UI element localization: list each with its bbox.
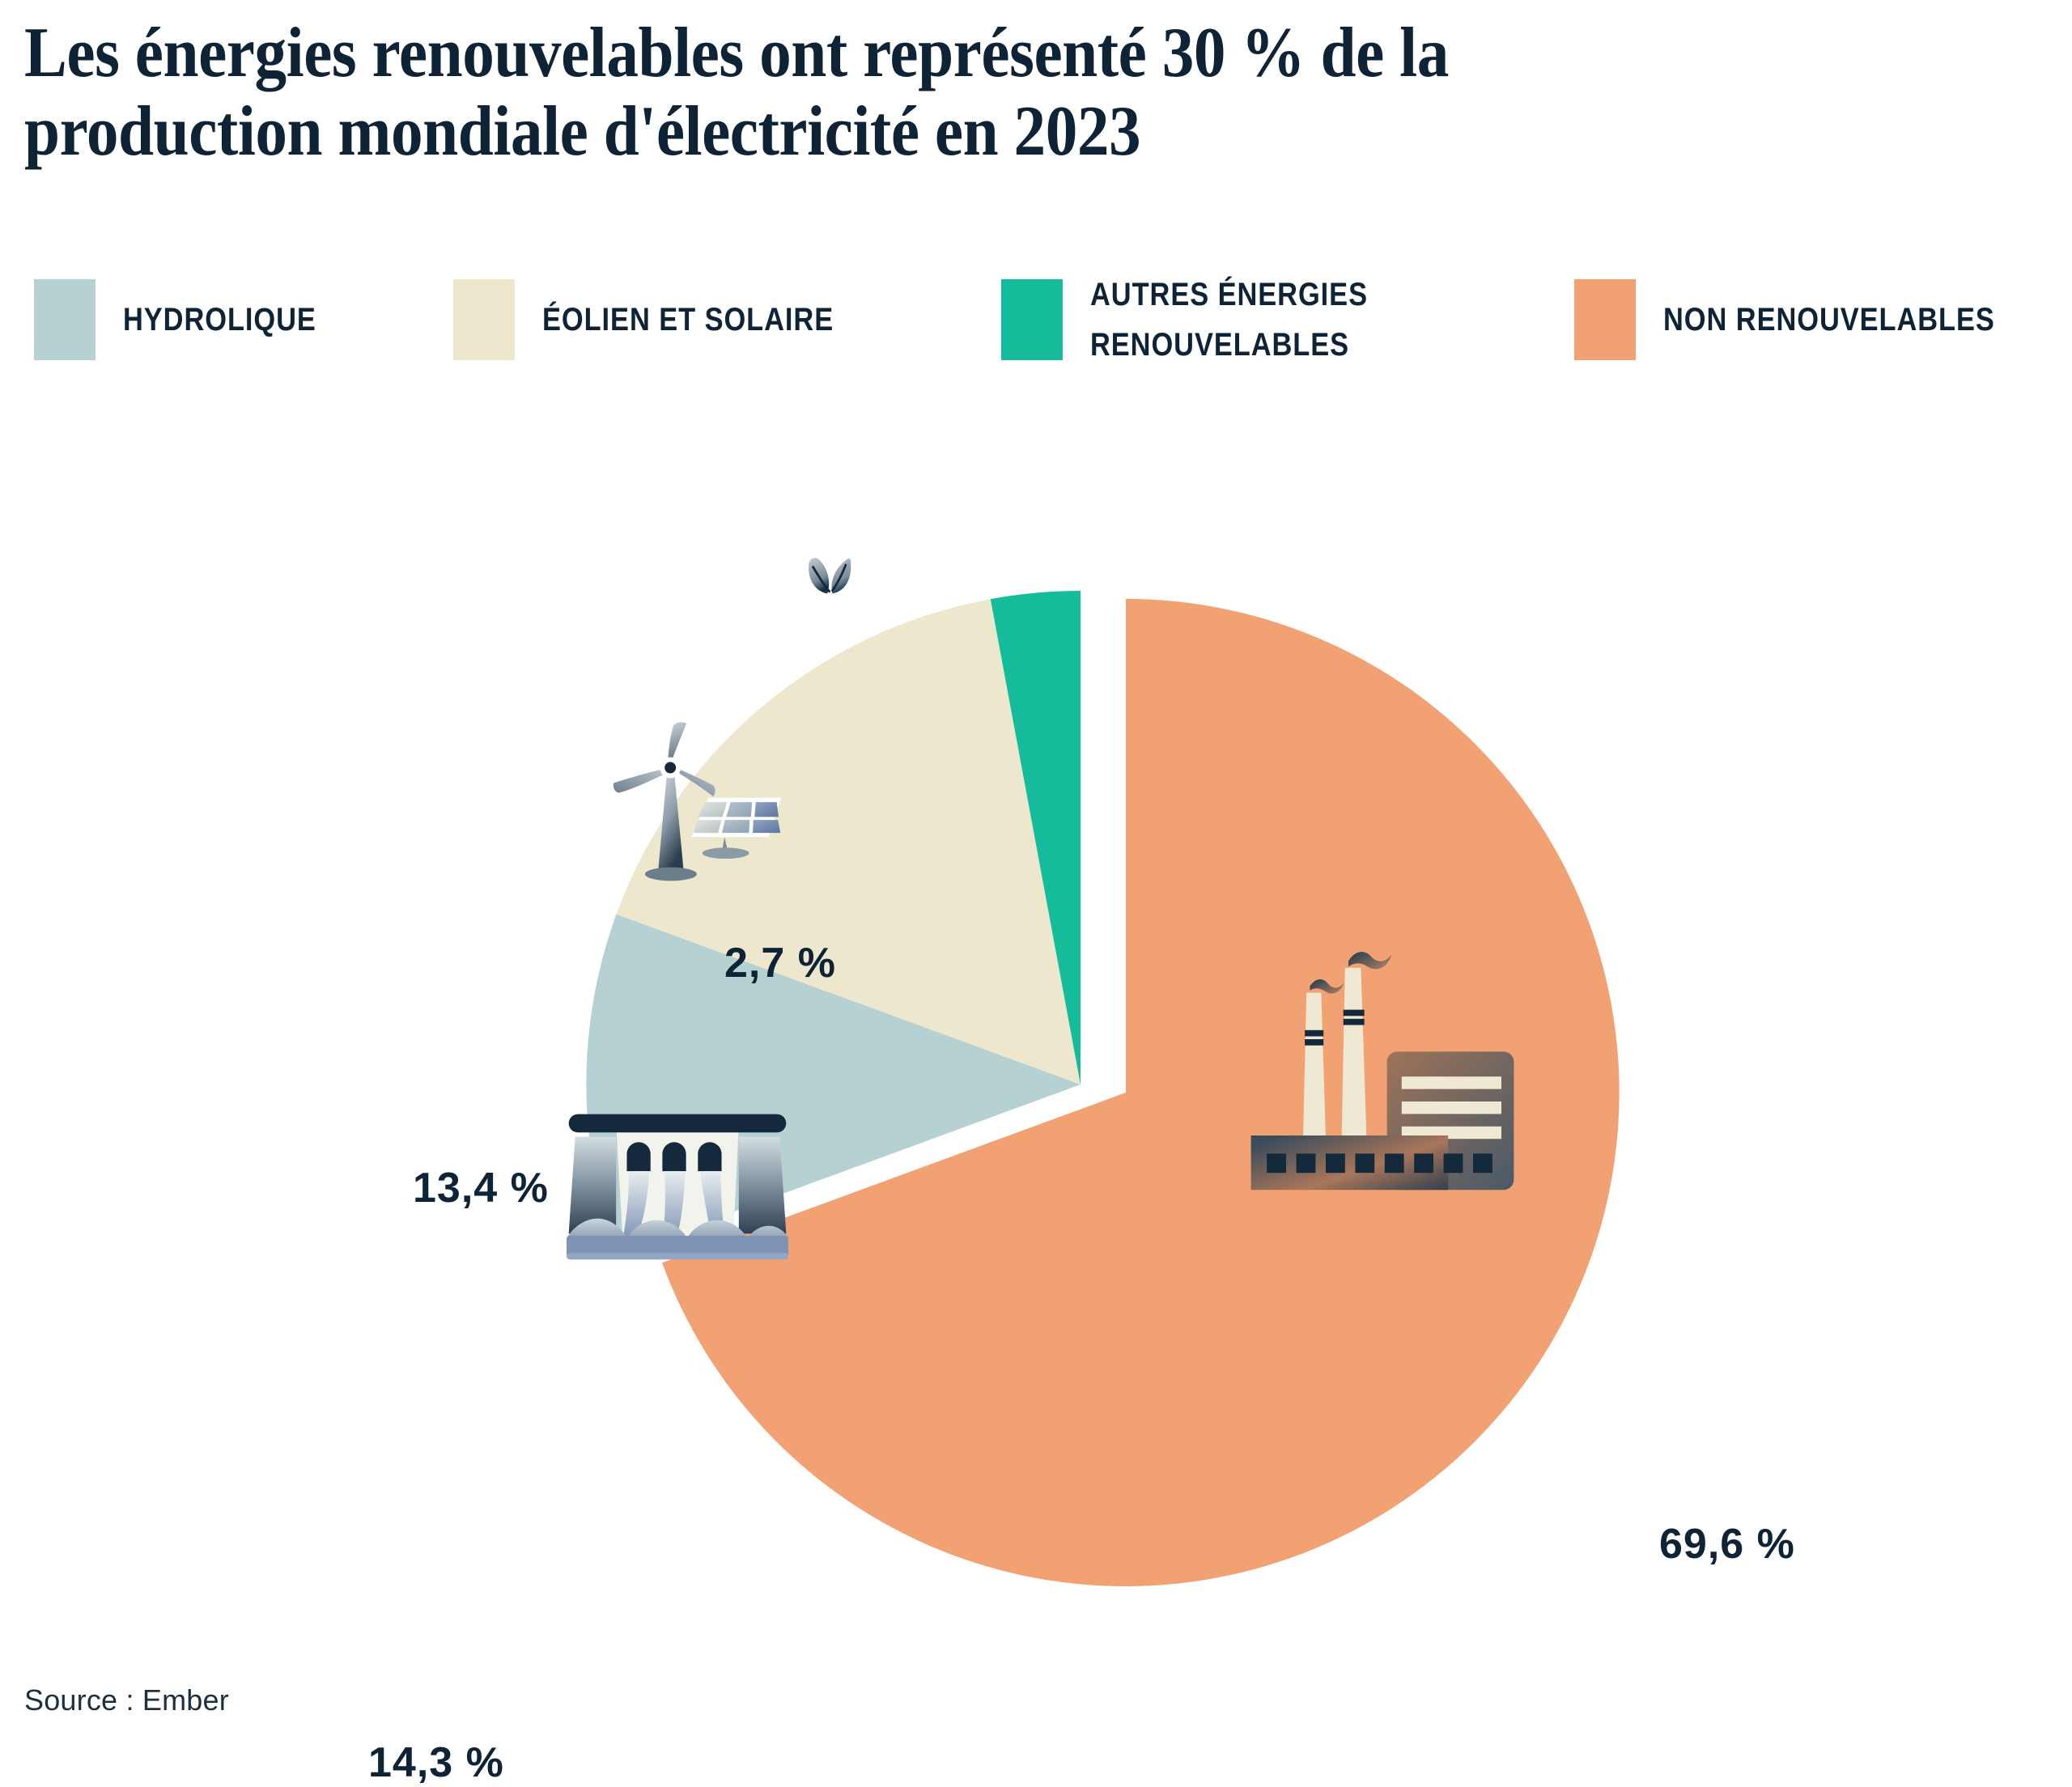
slice-label-other-renewable: 2,7 %	[724, 939, 836, 987]
legend-item-other-renewable[interactable]: AUTRES ÉNERGIES RENOUVELABLES	[1001, 267, 1413, 372]
legend-label-wind-solar: ÉOLIEN ET SOLAIRE	[542, 295, 834, 345]
page-title: Les énergies renouvelables ont représent…	[24, 15, 1845, 172]
legend-item-wind-solar[interactable]: ÉOLIEN ET SOLAIRE	[453, 267, 881, 372]
slice-label-wind-solar: 13,4 %	[413, 1164, 549, 1212]
source-note: Source : Ember	[24, 1683, 229, 1717]
legend-swatch-hydro	[34, 279, 96, 360]
legend-swatch-non-renewable	[1574, 279, 1636, 360]
legend-label-non-renewable: NON RENOUVELABLES	[1663, 295, 1995, 345]
pie-chart: 2,7 % 13,4 % 14,3 % 69,6 %	[0, 453, 2072, 1627]
slice-label-non-renewable: 69,6 %	[1659, 1520, 1795, 1568]
legend-label-other-renewable: AUTRES ÉNERGIES RENOUVELABLES	[1090, 270, 1368, 370]
legend-swatch-wind-solar	[453, 279, 515, 360]
legend-label-hydro: HYDROLIQUE	[123, 295, 316, 345]
leaf-icon	[809, 558, 851, 594]
pie-chart-svg	[0, 453, 2072, 1627]
legend-item-hydro[interactable]: HYDROLIQUE	[34, 267, 348, 372]
slice-label-hydro: 14,3 %	[368, 1738, 504, 1787]
legend-swatch-other-renewable	[1001, 279, 1063, 360]
legend-item-non-renewable[interactable]: NON RENOUVELABLES	[1574, 267, 2049, 372]
chart-legend: HYDROLIQUE ÉOLIEN ET SOLAIRE AUTRES ÉNER…	[0, 267, 2072, 388]
